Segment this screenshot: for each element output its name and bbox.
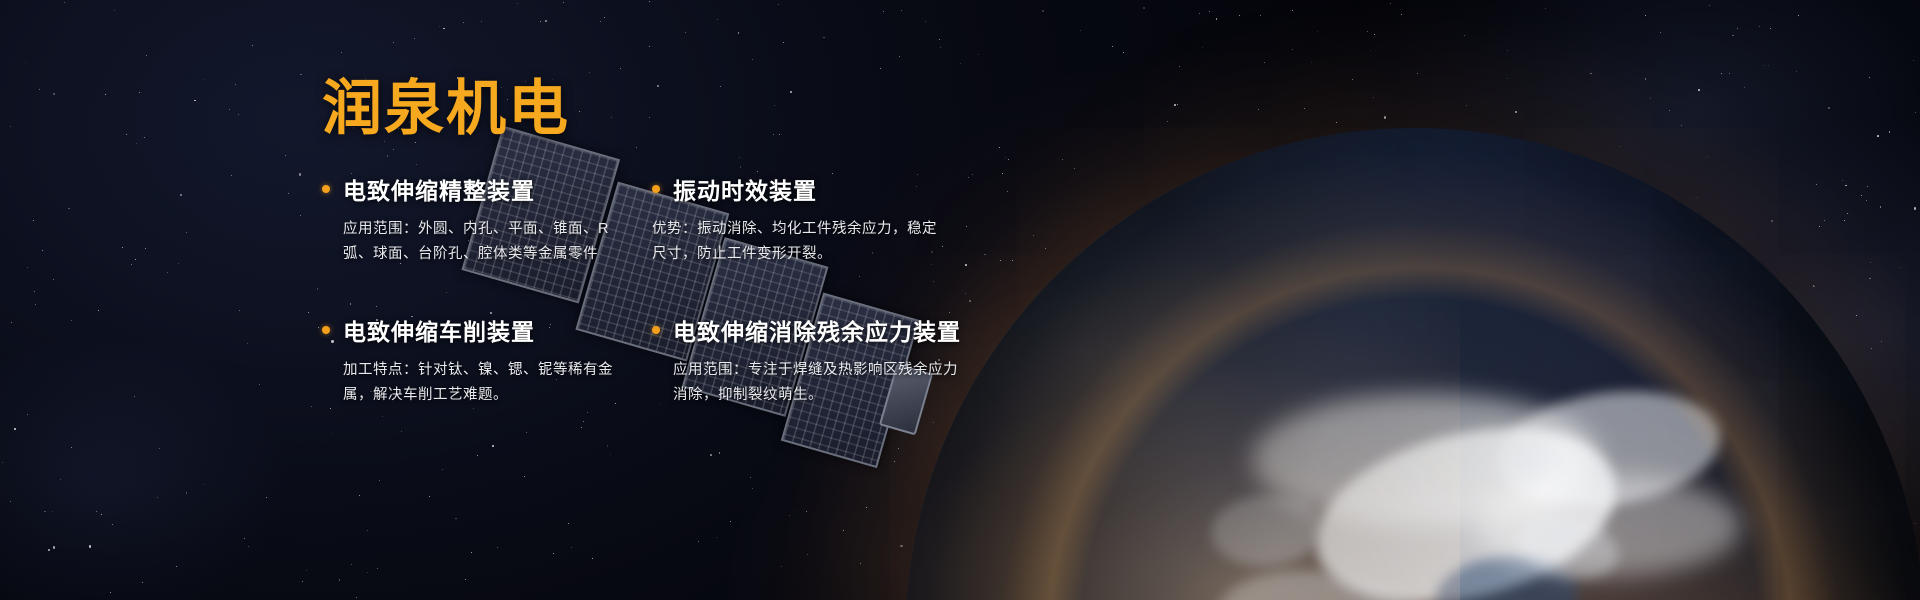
feature-item[interactable]: 电致伸缩车削装置 加工特点：针对钛、镍、锶、铌等稀有金属，解决车削工艺难题。: [322, 313, 652, 408]
hero-banner: 润泉机电 电致伸缩精整装置 应用范围：外圆、内孔、平面、锥面、R弧、球面、台阶孔…: [0, 0, 1920, 600]
feature-item-header: 振动时效装置: [652, 172, 982, 206]
feature-item-header: 电致伸缩车削装置: [322, 313, 652, 347]
feature-item[interactable]: 电致伸缩精整装置 应用范围：外圆、内孔、平面、锥面、R弧、球面、台阶孔、腔体类等…: [322, 172, 652, 267]
brand-title: 润泉机电: [322, 79, 570, 139]
feature-description: 优势：振动消除、均化工件残余应力，稳定尺寸，防止工件变形开裂。: [652, 217, 944, 267]
bullet-dot-icon: [652, 326, 660, 334]
feature-description: 应用范围：外圆、内孔、平面、锥面、R弧、球面、台阶孔、腔体类等金属零件: [343, 217, 633, 267]
feature-item-header: 电致伸缩消除残余应力装置: [652, 313, 982, 347]
feature-title: 电致伸缩消除残余应力装置: [673, 313, 961, 347]
feature-title: 振动时效装置: [673, 172, 817, 206]
feature-item-header: 电致伸缩精整装置: [322, 172, 652, 206]
bullet-dot-icon: [322, 185, 330, 193]
feature-item[interactable]: 振动时效装置 优势：振动消除、均化工件残余应力，稳定尺寸，防止工件变形开裂。: [652, 172, 982, 267]
banner-content: 润泉机电 电致伸缩精整装置 应用范围：外圆、内孔、平面、锥面、R弧、球面、台阶孔…: [0, 0, 1920, 600]
feature-title: 电致伸缩车削装置: [343, 313, 535, 347]
feature-description: 加工特点：针对钛、镍、锶、铌等稀有金属，解决车削工艺难题。: [343, 358, 633, 408]
feature-column-left: 电致伸缩精整装置 应用范围：外圆、内孔、平面、锥面、R弧、球面、台阶孔、腔体类等…: [322, 172, 652, 454]
feature-item[interactable]: 电致伸缩消除残余应力装置 应用范围：专注于焊缝及热影响区残余应力消除，抑制裂纹萌…: [652, 313, 982, 408]
feature-description: 应用范围：专注于焊缝及热影响区残余应力消除，抑制裂纹萌生。: [673, 358, 965, 408]
bullet-dot-icon: [322, 326, 330, 334]
feature-title: 电致伸缩精整装置: [343, 172, 535, 206]
bullet-dot-icon: [652, 185, 660, 193]
feature-column-right: 振动时效装置 优势：振动消除、均化工件残余应力，稳定尺寸，防止工件变形开裂。 电…: [652, 172, 982, 454]
